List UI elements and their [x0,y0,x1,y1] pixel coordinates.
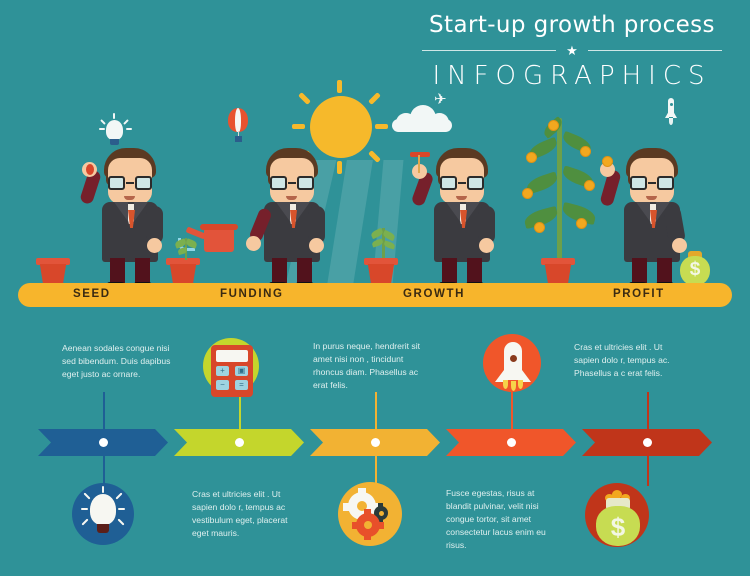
dollar-symbol: $ [596,514,640,540]
watering-can-top [200,224,238,230]
callout-stem-5 [647,392,649,430]
divider-line-left [422,50,556,51]
sun-ray [375,124,388,129]
money-bag-icon: $ [592,488,644,548]
header: Start-up growth process ★ INFOGRAPHICS [422,12,722,91]
stage-label-growth: GROWTH [403,288,465,300]
hand-left [246,236,261,251]
character-growth [410,140,520,290]
lightbulb-icon [79,486,127,542]
infographic-canvas: Start-up growth process ★ INFOGRAPHICS ✈ [0,0,750,576]
callout-stem-8 [375,456,377,484]
money-tree [520,118,600,268]
arrow-step-1[interactable] [38,429,168,456]
character-funding [240,140,350,290]
hand-right [147,238,162,253]
divider-line-right [588,50,722,51]
sun-ray [298,92,311,105]
callout-stem-3 [375,392,377,430]
rocket-icon [665,98,677,128]
airplane-icon: ✈ [434,92,447,107]
arrow-step-5[interactable] [582,429,712,456]
arrow-dot [371,438,380,447]
hot-air-balloon-icon [228,108,250,144]
sun-ray [292,124,305,129]
dollar-symbol: $ [680,260,710,280]
stage-label-seed: SEED [73,288,111,300]
gears-icon [346,492,394,536]
flower-pot-rim [541,258,575,265]
callout-text-3: In purus neque, hendrerit sit amet nisi … [313,340,425,392]
hand-right [479,238,494,253]
glasses-icon [268,176,316,190]
young-plant [372,228,394,260]
title-divider: ★ [422,44,722,57]
callout-text-7: Cras et ultricies elit . Ut sapien dolo … [192,488,304,540]
callout-stem-6 [103,456,105,486]
stage-label-funding: FUNDING [220,288,284,300]
sun-ray [368,92,381,105]
callout-text-5: Cras et ultricies elit . Ut sapien dolo … [574,341,684,380]
hand-right [309,238,324,253]
stage-label-profit: PROFIT [613,288,665,300]
glasses-icon [106,176,154,190]
callout-text-1: Aenean sodales congue nisi sed bibendum.… [62,342,172,381]
cloud-icon [392,105,452,131]
glasses-icon [438,176,486,190]
arrow-dot [507,438,516,447]
seed-icon [86,164,94,175]
calculator-icon: + ▣ − = [211,345,253,397]
sun-ray [337,80,342,93]
callout-stem-1 [103,392,105,430]
gold-coin-icon [602,156,613,167]
arrow-step-4[interactable] [446,429,576,456]
sprout-plant [175,236,197,260]
arrow-step-2[interactable] [174,429,304,456]
arrow-step-3[interactable] [310,429,440,456]
page-title: Start-up growth process [422,12,722,38]
arrow-dot [235,438,244,447]
watering-can-icon [204,228,234,252]
arrow-dot [99,438,108,447]
arrow-dot [643,438,652,447]
page-subtitle: INFOGRAPHICS [422,61,722,91]
flower-pot-rim [36,258,70,265]
star-icon: ★ [566,44,578,57]
callout-stem-10 [647,456,649,486]
rake-head-icon [410,152,430,157]
callout-stem-4 [511,390,513,430]
callout-text-9: Fusce egestas, risus at blandit pulvinar… [446,487,556,552]
rocket-icon [495,342,531,386]
glasses-icon [628,176,676,190]
rake-handle [418,155,420,173]
